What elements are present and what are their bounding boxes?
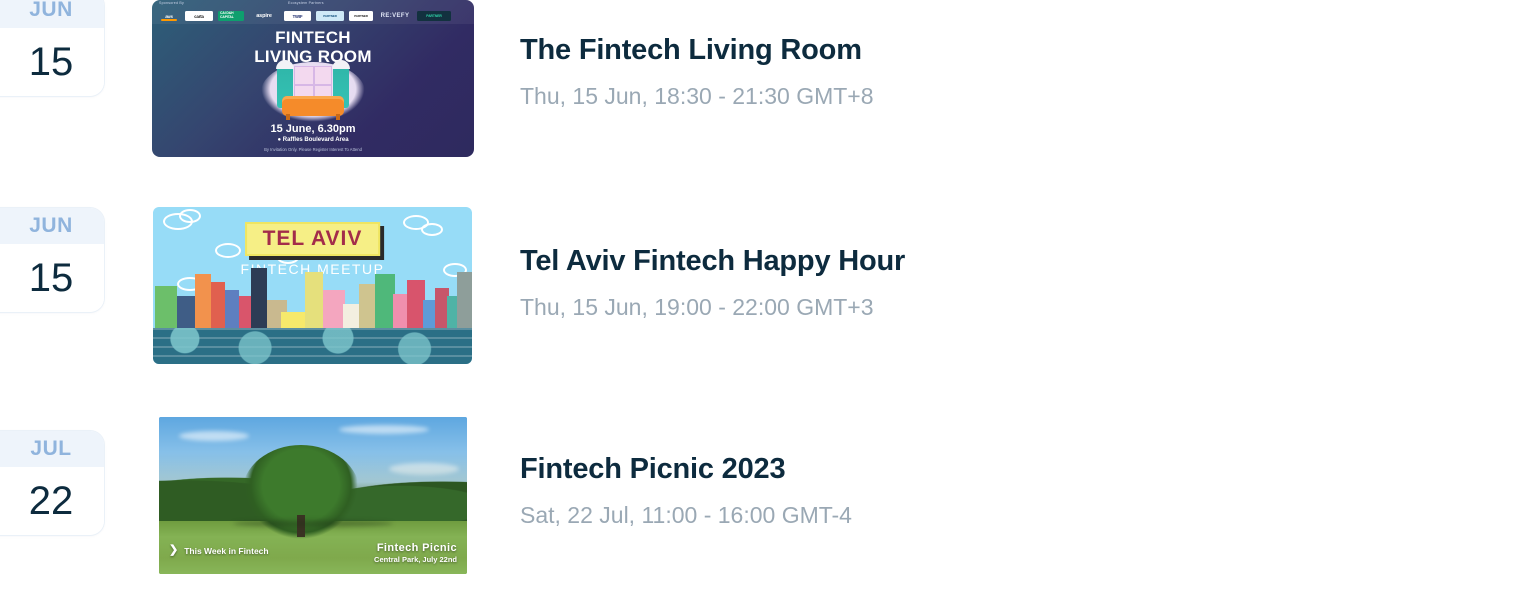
event-date-month: JUL xyxy=(0,431,104,467)
sponsored-by-label: Sponsored By xyxy=(159,1,184,5)
event-text-block: Tel Aviv Fintech Happy Hour Thu, 15 Jun,… xyxy=(520,245,905,321)
building xyxy=(457,272,472,330)
event-cover-image[interactable]: ❯ This Week in Fintech Fintech Picnic Ce… xyxy=(159,417,467,574)
building xyxy=(323,290,345,330)
aspire-logo: aspire xyxy=(249,11,279,21)
cover-when: 15 June, 6.30pm xyxy=(152,123,474,135)
event-time: Thu, 15 Jun, 18:30 - 21:30 GMT+8 xyxy=(520,83,874,110)
event-title[interactable]: Fintech Picnic 2023 xyxy=(520,453,852,486)
building xyxy=(225,290,239,330)
building xyxy=(239,296,251,330)
cover-brand-text: This Week in Fintech xyxy=(184,546,268,556)
event-date-day: 15 xyxy=(0,244,104,312)
cover-event-place: Central Park, July 22nd xyxy=(374,555,457,564)
cover-note: By Invitation Only. Please Register Inte… xyxy=(152,147,474,152)
building xyxy=(375,274,395,330)
event-date-badge: JUL 22 xyxy=(0,431,104,535)
revefy-logo: RE:VEFY xyxy=(378,11,412,21)
cover-where-text: Raffles Boulevard Area xyxy=(283,137,349,143)
event-row[interactable]: JUN 15 Sponsored By Ecosystem Partners a… xyxy=(0,0,1516,207)
event-title[interactable]: The Fintech Living Room xyxy=(520,34,874,67)
events-list: JUN 15 Sponsored By Ecosystem Partners a… xyxy=(0,0,1516,610)
event-cover-image[interactable]: TEL AVIV FINTECH MEETUP xyxy=(153,207,472,364)
building xyxy=(195,274,211,330)
event-cover-image[interactable]: Sponsored By Ecosystem Partners aws cart… xyxy=(152,0,474,157)
event-row[interactable]: JUN 15 TEL AVIV FINTECH MEETUP xyxy=(0,207,1516,415)
event-date-month: JUN xyxy=(0,0,104,28)
partner-logo-b: PARTNER xyxy=(349,11,373,21)
lamp-right-icon xyxy=(332,60,350,69)
cover-banner-text: TEL AVIV xyxy=(263,227,363,250)
event-date-badge: JUN 15 xyxy=(0,0,104,96)
location-pin-icon: ● xyxy=(277,137,281,143)
building xyxy=(251,268,267,330)
event-text-block: The Fintech Living Room Thu, 15 Jun, 18:… xyxy=(520,34,874,110)
cover-caption: Fintech Picnic Central Park, July 22nd xyxy=(374,542,457,564)
cover-event-name: Fintech Picnic xyxy=(374,542,457,554)
event-date-badge: JUN 15 xyxy=(0,208,104,312)
sponsor-bar: Sponsored By Ecosystem Partners aws cart… xyxy=(152,0,474,24)
cover-headline-line1: FINTECH xyxy=(152,28,474,47)
sofa-icon xyxy=(282,96,344,116)
event-date-month: JUN xyxy=(0,208,104,244)
skyline-illustration xyxy=(153,262,472,330)
building xyxy=(343,304,359,330)
cover-brand: ❯ This Week in Fintech xyxy=(169,545,269,556)
event-time: Sat, 22 Jul, 11:00 - 16:00 GMT-4 xyxy=(520,502,852,529)
partner-logo-a: PARTNER xyxy=(316,11,344,21)
tree-shadow xyxy=(233,520,393,527)
cai-capital-logo: CAI D&H CAPITAL xyxy=(218,11,244,21)
cloud-icon xyxy=(339,425,429,434)
event-row[interactable]: JUL 22 ❯ This Week in Fintech Fintech Pi… xyxy=(0,415,1516,610)
event-date-day: 22 xyxy=(0,467,104,535)
chevron-right-icon: ❯ xyxy=(169,545,178,556)
aws-logo: aws xyxy=(158,11,180,21)
twif-logo: TWIF xyxy=(284,11,311,21)
event-time: Thu, 15 Jun, 19:00 - 22:00 GMT+3 xyxy=(520,294,905,321)
building xyxy=(305,272,323,330)
cloud-icon xyxy=(421,223,443,236)
event-title[interactable]: Tel Aviv Fintech Happy Hour xyxy=(520,245,905,278)
cloud-icon xyxy=(215,243,241,258)
building xyxy=(177,296,195,330)
carta-logo: carta xyxy=(185,11,213,21)
event-date-day: 15 xyxy=(0,28,104,96)
partner-logo-c: PARTNER xyxy=(417,11,451,21)
ecosystem-partners-label: Ecosystem Partners xyxy=(288,1,324,5)
building xyxy=(155,286,177,330)
lamp-left-icon xyxy=(276,60,294,69)
cover-headline: FINTECH LIVING ROOM xyxy=(152,28,474,66)
building xyxy=(211,282,225,330)
cloud-icon xyxy=(179,209,201,223)
cover-where: ● Raffles Boulevard Area xyxy=(152,137,474,143)
living-room-illustration xyxy=(261,62,365,122)
cloud-icon xyxy=(179,431,249,441)
event-text-block: Fintech Picnic 2023 Sat, 22 Jul, 11:00 -… xyxy=(520,453,852,529)
cover-banner: TEL AVIV xyxy=(245,222,381,256)
water-illustration xyxy=(153,328,472,364)
